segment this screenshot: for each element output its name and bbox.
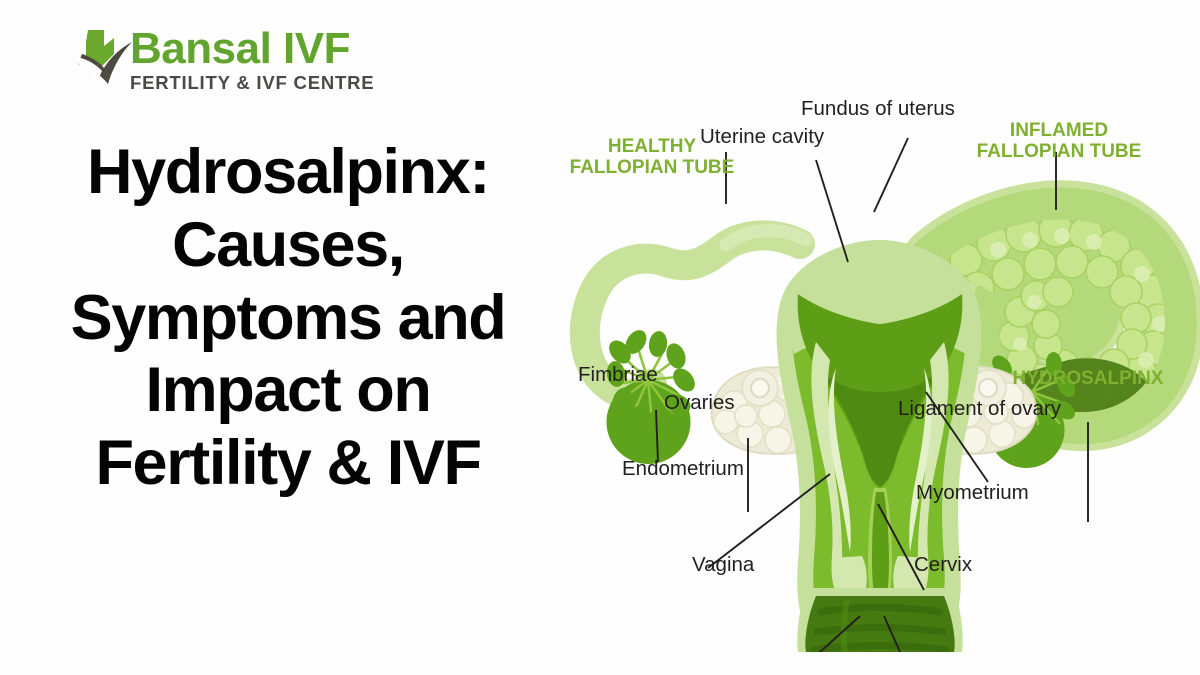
leaf-check-icon (74, 28, 134, 90)
title-line-2: Causes, (18, 209, 558, 282)
brand-name: Bansal IVF (130, 26, 374, 72)
page-title: Hydrosalpinx: Causes, Symptoms and Impac… (18, 136, 558, 500)
brand-tagline: FERTILITY & IVF CENTRE (130, 73, 374, 93)
title-line-4: Impact on (18, 354, 558, 427)
label-fundus-of-uterus: Fundus of uterus (801, 98, 955, 120)
label-cervix: Cervix (914, 554, 972, 576)
label-ligament-of-ovary: Ligament of ovary (898, 398, 1061, 420)
label-healthy-line2: FALLOPIAN TUBE (570, 157, 735, 178)
label-healthy-line1: HEALTHY (608, 136, 696, 157)
label-hydrosalpinx: HYDROSALPINX (1000, 368, 1176, 389)
title-line-5: Fertility & IVF (18, 427, 558, 500)
poster-canvas: Bansal IVF FERTILITY & IVF CENTRE Hydros… (0, 0, 1200, 675)
label-inflamed-line1: INFLAMED (1010, 120, 1108, 141)
title-line-3: Symptoms and (18, 282, 558, 355)
label-endometrium: Endometrium (622, 458, 744, 480)
label-inflamed-line2: FALLOPIAN TUBE (977, 141, 1142, 162)
label-ovaries: Ovaries (664, 392, 735, 414)
anatomy-diagram: HEALTHY FALLOPIAN TUBE INFLAMED FALLOPIA… (548, 92, 1200, 652)
brand-logo[interactable]: Bansal IVF FERTILITY & IVF CENTRE (74, 28, 374, 98)
label-inflamed-fallopian-tube: INFLAMED FALLOPIAN TUBE (966, 120, 1152, 162)
label-uterine-cavity: Uterine cavity (700, 126, 824, 148)
label-myometrium: Myometrium (916, 482, 1029, 504)
label-vagina: Vagina (692, 554, 754, 576)
label-fimbriae: Fimbriae (578, 364, 658, 386)
vagina-shape (797, 588, 962, 652)
title-line-1: Hydrosalpinx: (18, 136, 558, 209)
